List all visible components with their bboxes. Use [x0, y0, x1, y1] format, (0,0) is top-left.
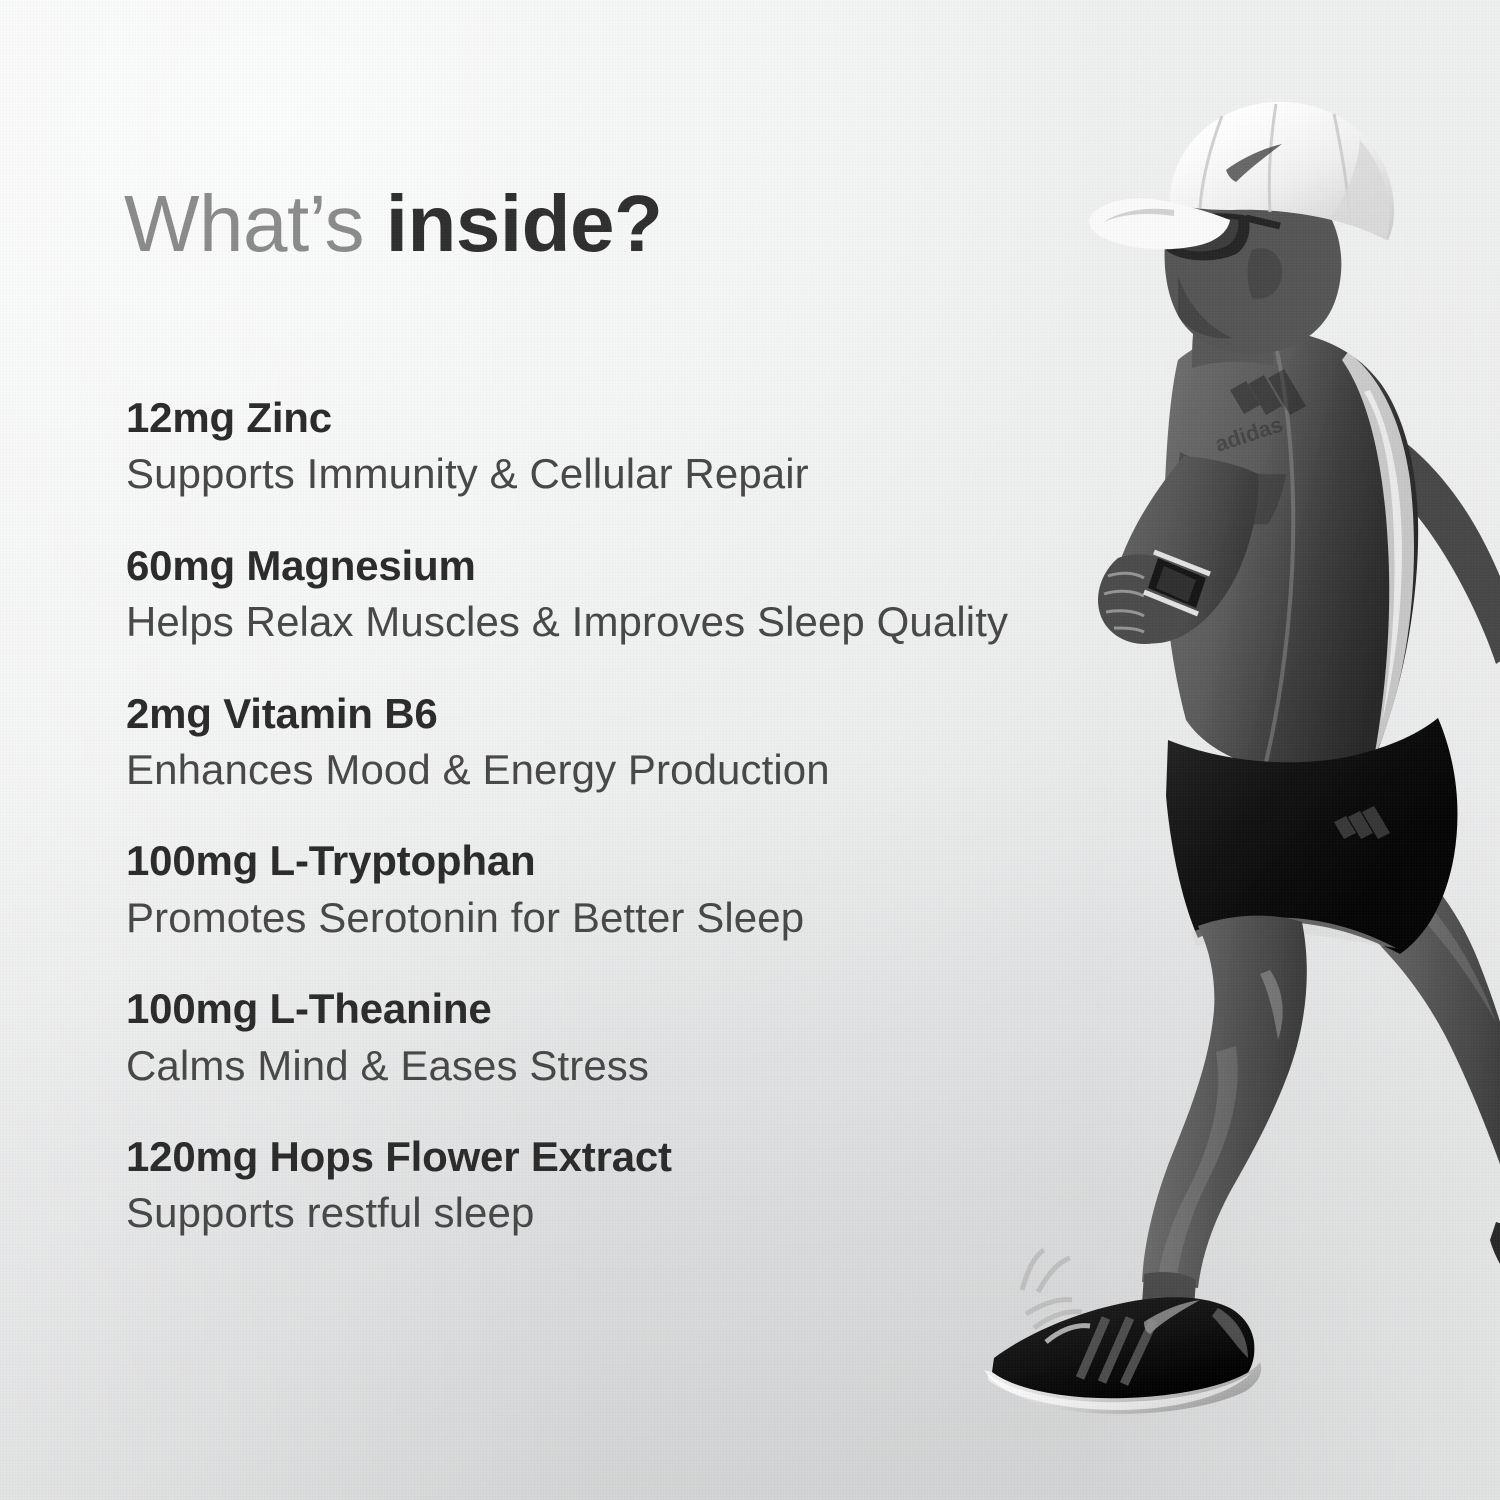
promo-graphic: adidas [0, 0, 1500, 1500]
ingredient-name: 2mg Vitamin B6 [126, 688, 1146, 739]
far-shoe [1490, 1222, 1500, 1298]
ingredient-benefit: Promotes Serotonin for Better Sleep [126, 891, 1146, 946]
ingredient-list: 12mg Zinc Supports Immunity & Cellular R… [126, 392, 1146, 1241]
ingredient-item-l-theanine: 100mg L-Theanine Calms Mind & Eases Stre… [126, 983, 1146, 1093]
ingredient-name: 100mg L-Theanine [126, 983, 1146, 1034]
ingredient-item-hops-flower-extract: 120mg Hops Flower Extract Supports restf… [126, 1131, 1146, 1241]
ingredient-name: 60mg Magnesium [126, 540, 1146, 591]
ingredient-name: 12mg Zinc [126, 392, 1146, 443]
ingredient-benefit: Enhances Mood & Energy Production [126, 743, 1146, 798]
ingredient-benefit: Supports restful sleep [126, 1186, 1146, 1241]
ingredient-item-magnesium: 60mg Magnesium Helps Relax Muscles & Imp… [126, 540, 1146, 650]
title-light-part: What’s [124, 179, 386, 268]
ingredient-benefit: Helps Relax Muscles & Improves Sleep Qua… [126, 595, 1146, 650]
running-shoe [984, 1250, 1261, 1414]
ingredient-item-l-tryptophan: 100mg L-Tryptophan Promotes Serotonin fo… [126, 835, 1146, 945]
ingredient-name: 100mg L-Tryptophan [126, 835, 1146, 886]
ingredient-item-vitamin-b6: 2mg Vitamin B6 Enhances Mood & Energy Pr… [126, 688, 1146, 798]
page-title: What’s inside? [124, 184, 662, 264]
title-bold-part: inside? [386, 179, 663, 268]
ingredient-benefit: Supports Immunity & Cellular Repair [126, 447, 1146, 502]
ingredient-item-zinc: 12mg Zinc Supports Immunity & Cellular R… [126, 392, 1146, 502]
ingredient-benefit: Calms Mind & Eases Stress [126, 1039, 1146, 1094]
ingredient-name: 120mg Hops Flower Extract [126, 1131, 1146, 1182]
